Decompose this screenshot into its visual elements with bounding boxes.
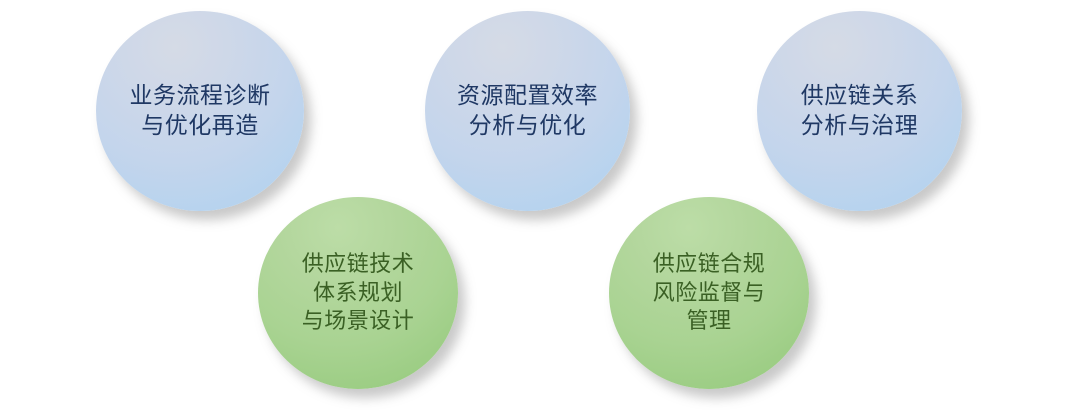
diagram-node-supply-chain-compliance[interactable]: 供应链合规 风险监督与 管理 [609,197,809,389]
diagram-node-supply-chain-technology[interactable]: 供应链技术 体系规划 与场景设计 [258,197,458,389]
node-label: 供应链关系 分析与治理 [795,81,925,141]
diagram-node-supply-chain-relations[interactable]: 供应链关系 分析与治理 [757,11,962,211]
node-label: 供应链合规 风险监督与 管理 [647,250,772,336]
node-label: 资源配置效率 分析与优化 [451,81,604,141]
node-label: 业务流程诊断 与优化再造 [124,81,277,141]
diagram-canvas: 业务流程诊断 与优化再造 资源配置效率 分析与优化 供应链关系 分析与治理 供应… [0,0,1071,415]
diagram-node-resource-allocation[interactable]: 资源配置效率 分析与优化 [425,11,630,211]
node-label: 供应链技术 体系规划 与场景设计 [296,250,421,336]
diagram-node-business-process[interactable]: 业务流程诊断 与优化再造 [96,11,304,211]
